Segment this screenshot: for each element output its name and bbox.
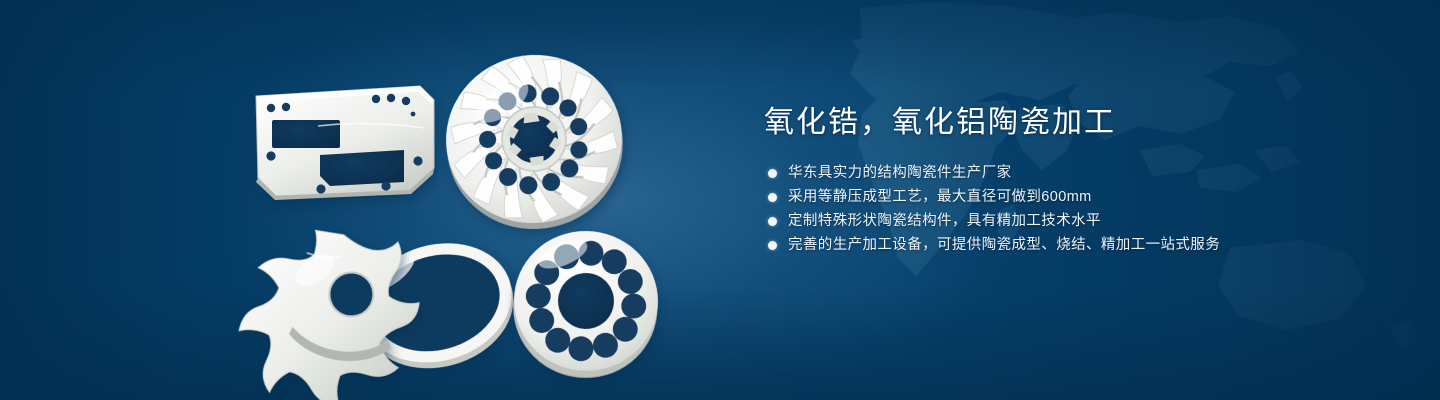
list-item: 采用等静压成型工艺，最大直径可做到600mm: [764, 186, 1384, 209]
promo-banner: 氧化锆，氧化铝陶瓷加工 华东具实力的结构陶瓷件生产厂家 采用等静压成型工艺，最大…: [0, 0, 1440, 400]
bullet-dot-icon: [768, 241, 777, 250]
product-photo-group: [0, 0, 720, 400]
banner-bullet-list: 华东具实力的结构陶瓷件生产厂家 采用等静压成型工艺，最大直径可做到600mm 定…: [764, 162, 1384, 257]
list-item: 华东具实力的结构陶瓷件生产厂家: [764, 162, 1384, 185]
bullet-dot-icon: [768, 169, 777, 178]
bullet-dot-icon: [768, 193, 777, 202]
ceramic-hole-ring-plate: [506, 224, 665, 385]
ceramic-impeller-disc: [435, 44, 634, 241]
bullet-text: 华东具实力的结构陶瓷件生产厂家: [788, 162, 1012, 185]
bullet-text: 完善的生产加工设备，可提供陶瓷成型、烧结、精加工一站式服务: [788, 234, 1220, 257]
banner-copy: 氧化锆，氧化铝陶瓷加工 华东具实力的结构陶瓷件生产厂家 采用等静压成型工艺，最大…: [764, 104, 1384, 258]
list-item: 定制特殊形状陶瓷结构件，具有精加工技术水平: [764, 210, 1384, 233]
list-item: 完善的生产加工设备，可提供陶瓷成型、烧结、精加工一站式服务: [764, 234, 1384, 257]
bullet-text: 定制特殊形状陶瓷结构件，具有精加工技术水平: [788, 210, 1101, 233]
bullet-text: 采用等静压成型工艺，最大直径可做到600mm: [788, 186, 1092, 209]
ceramic-machined-plate: [256, 86, 434, 200]
banner-headline: 氧化锆，氧化铝陶瓷加工: [764, 104, 1384, 142]
ceramic-cross-cam: [229, 220, 429, 400]
bullet-dot-icon: [768, 217, 777, 226]
